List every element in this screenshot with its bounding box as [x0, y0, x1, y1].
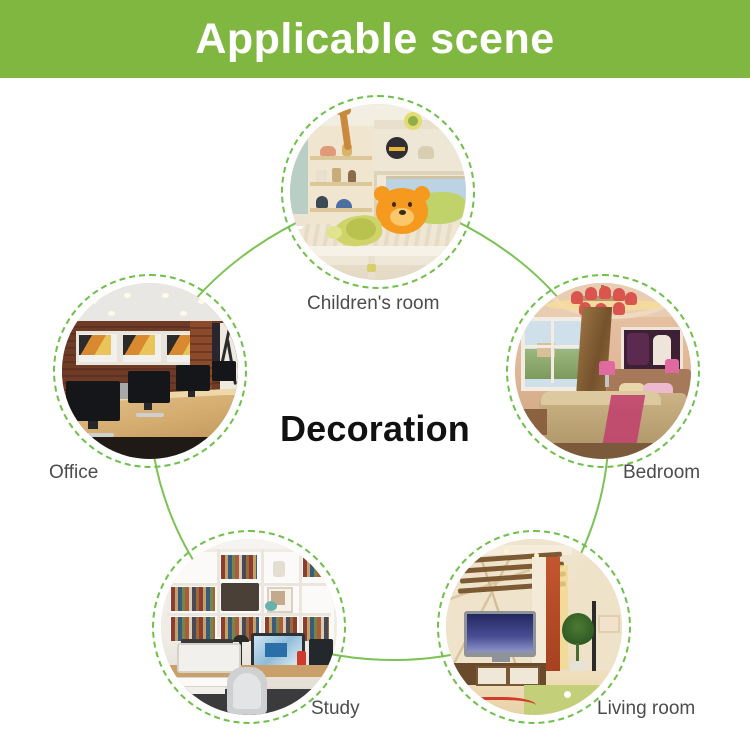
scene-label-living-room: Living room — [597, 698, 695, 720]
scene-node-study[interactable] — [152, 530, 346, 724]
scene-label-office: Office — [49, 462, 98, 484]
header-banner: Applicable scene — [0, 0, 750, 78]
applicable-scene-infographic: Applicable scene — [0, 0, 750, 750]
diagram-stage: Children's room — [0, 78, 750, 750]
scene-label-bedroom: Bedroom — [623, 462, 700, 484]
scene-label-children-room: Children's room — [307, 293, 439, 315]
children-room-photo — [290, 104, 466, 280]
scene-node-children-room[interactable] — [281, 95, 475, 289]
study-photo — [161, 539, 337, 715]
page-title: Applicable scene — [195, 18, 554, 61]
living-room-photo — [446, 539, 622, 715]
scene-node-living-room[interactable] — [437, 530, 631, 724]
center-title: Decoration — [0, 408, 750, 450]
scene-label-study: Study — [311, 698, 360, 720]
